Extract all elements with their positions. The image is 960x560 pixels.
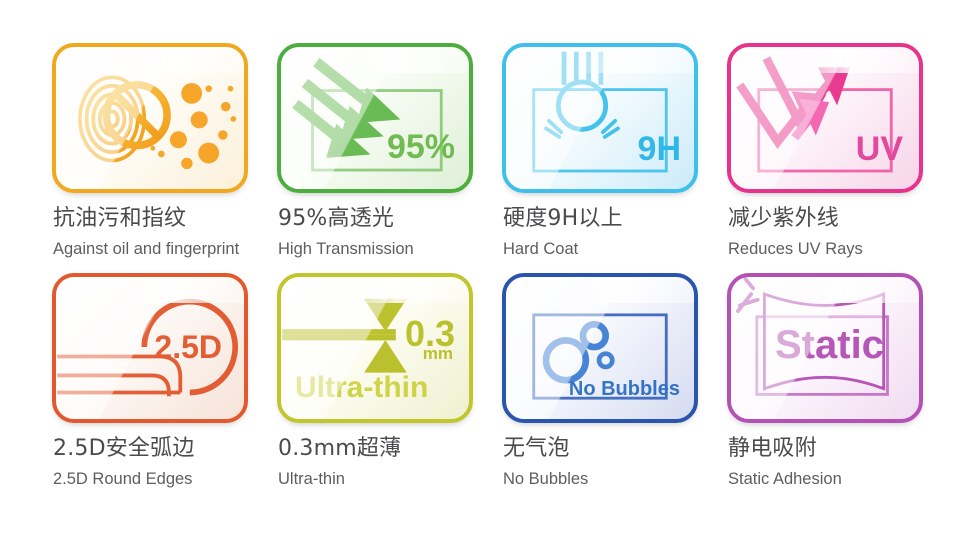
feature-title-cn: 减少紫外线 <box>728 206 839 232</box>
feature-icon-tile <box>52 43 248 193</box>
feature-badge: 95% <box>387 128 455 167</box>
feature-title-en: Static Adhesion <box>728 469 842 489</box>
feature-title-en: Reduces UV Rays <box>728 239 863 259</box>
feature-badge: 9H <box>638 130 681 169</box>
feature-icon-tile: 9H <box>502 43 698 193</box>
feature-title-en: High Transmission <box>278 239 414 259</box>
feature-card-static-adhesion[interactable]: Static 静电吸附 Static Adhesion <box>727 273 952 503</box>
feature-badge: No Bubbles <box>569 378 680 401</box>
feature-title-cn: 硬度9H以上 <box>503 206 623 232</box>
feature-title-cn: 无气泡 <box>503 436 570 462</box>
feature-card-anti-oil-fingerprint[interactable]: 抗油污和指纹 Against oil and fingerprint <box>52 43 277 273</box>
light-rays-screen-icon <box>281 47 469 189</box>
feature-title-cn: 静电吸附 <box>728 436 817 462</box>
feature-title-en: 2.5D Round Edges <box>53 469 192 489</box>
feature-badge: UV <box>856 130 903 169</box>
feature-title-cn: 2.5D安全弧边 <box>53 436 195 462</box>
feature-icon-tile: 95% <box>277 43 473 193</box>
feature-card-reduces-uv[interactable]: UV 减少紫外线 Reduces UV Rays <box>727 43 952 273</box>
fingerprint-no-entry-icon <box>56 47 244 189</box>
feature-card-no-bubbles[interactable]: No Bubbles 无气泡 No Bubbles <box>502 273 727 503</box>
feature-title-cn: 95%高透光 <box>278 206 394 232</box>
feature-title-cn: 抗油污和指纹 <box>53 206 186 232</box>
feature-card-hard-coat[interactable]: 9H 硬度9H以上 Hard Coat <box>502 43 727 273</box>
feature-badge: Static <box>775 323 884 368</box>
feature-icon-tile: Static <box>727 273 923 423</box>
feature-title-en: Against oil and fingerprint <box>53 239 239 259</box>
feature-grid: 抗油污和指纹 Against oil and fingerprint <box>0 0 960 560</box>
feature-title-en: Hard Coat <box>503 239 578 259</box>
feature-icon-tile: 0.3 mm Ultra-thin <box>277 273 473 423</box>
feature-title-en: Ultra-thin <box>278 469 345 489</box>
feature-title-cn: 0.3mm超薄 <box>278 436 401 462</box>
feature-icon-tile: UV <box>727 43 923 193</box>
feature-icon-tile: 2.5D <box>52 273 248 423</box>
feature-card-round-edges[interactable]: 2.5D 2.5D安全弧边 2.5D Round Edges <box>52 273 277 503</box>
feature-badge-sub: Ultra-thin <box>295 371 428 405</box>
feature-badge-unit: mm <box>423 344 453 364</box>
feature-icon-tile: No Bubbles <box>502 273 698 423</box>
feature-card-ultra-thin[interactable]: 0.3 mm Ultra-thin 0.3mm超薄 Ultra-thin <box>277 273 502 503</box>
feature-badge: 2.5D <box>154 329 222 366</box>
feature-grid-board: 抗油污和指纹 Against oil and fingerprint <box>0 0 960 560</box>
feature-title-en: No Bubbles <box>503 469 588 489</box>
feature-card-high-transmission[interactable]: 95% 95%高透光 High Transmission <box>277 43 502 273</box>
